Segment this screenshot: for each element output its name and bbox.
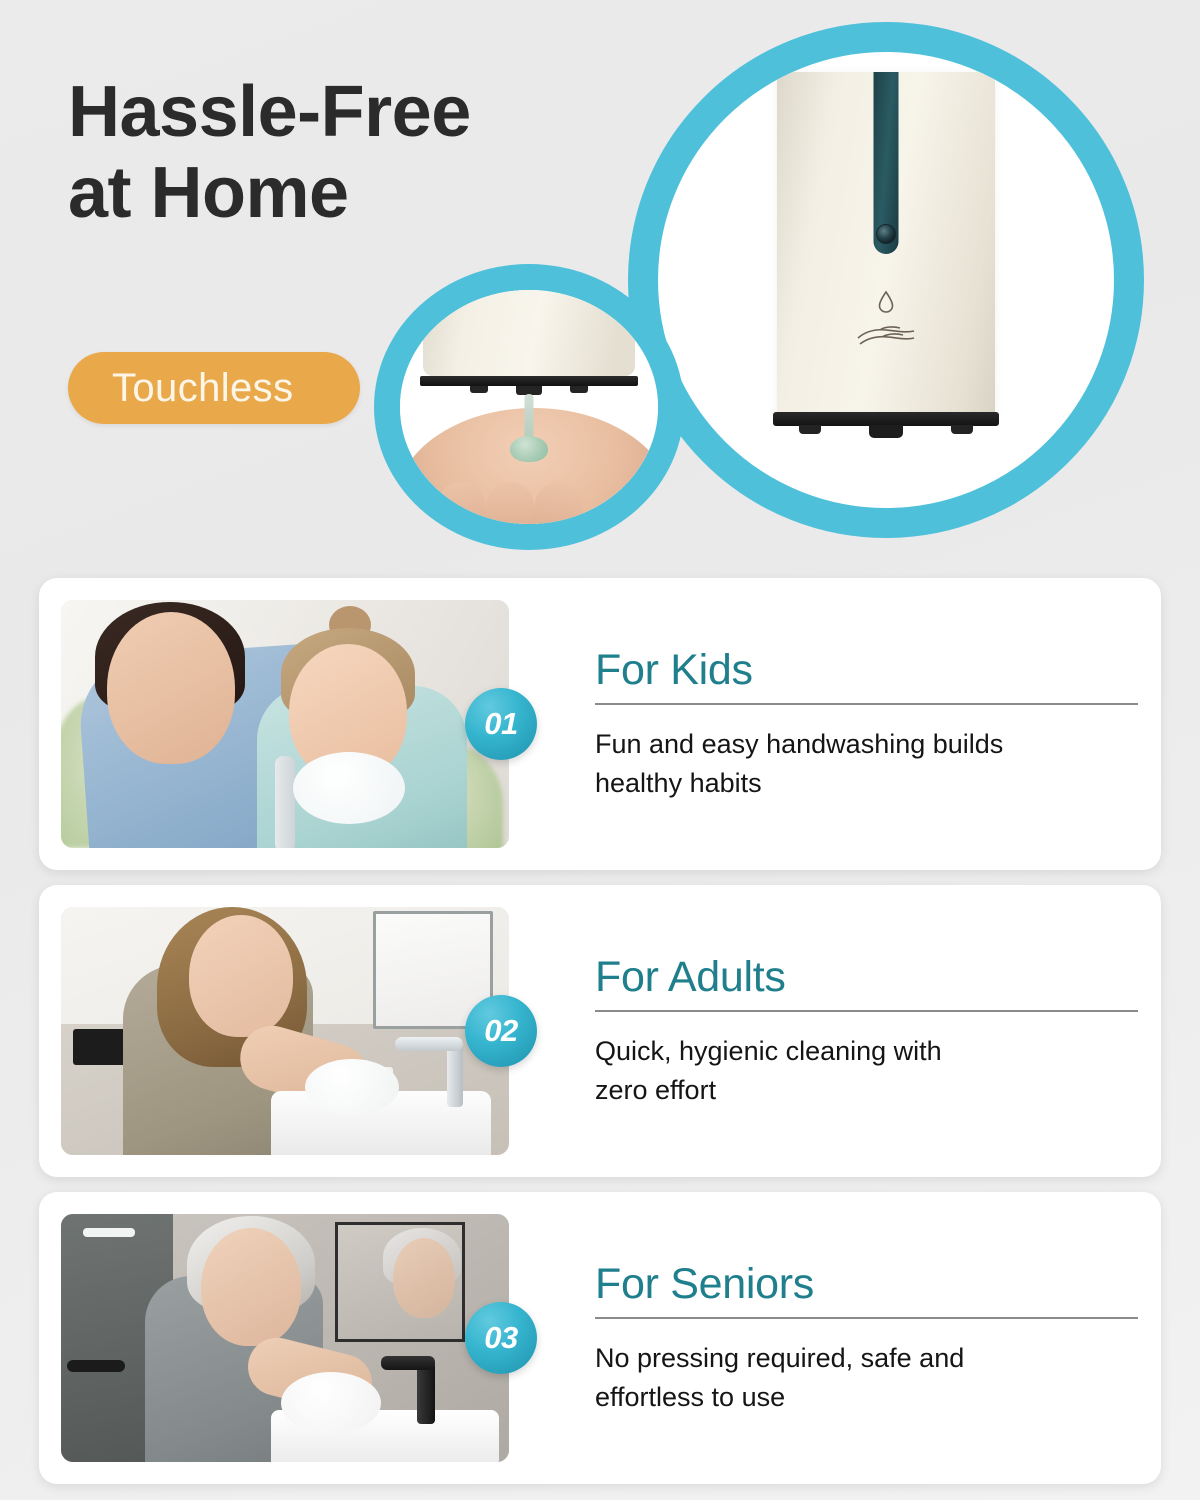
infrared-sensor-icon (876, 224, 896, 244)
soap-foam (281, 1372, 381, 1434)
step-number-badge-02: 02 (465, 995, 537, 1067)
dispenser-bottom-body (423, 264, 635, 376)
card-photo-adults (61, 907, 509, 1155)
mother-head (107, 612, 235, 764)
card-description: No pressing required, safe and effortles… (595, 1339, 1125, 1416)
hand-dispensing-scene (400, 290, 658, 524)
card-text-adults: For Adults Quick, hygienic cleaning with… (509, 953, 1146, 1109)
finger (435, 479, 490, 542)
card-title: For Adults (595, 953, 1138, 1002)
card-title: For Kids (595, 646, 1138, 695)
step-number-text: 01 (484, 706, 517, 742)
use-case-card-seniors[interactable]: 03 For Seniors No pressing required, saf… (39, 1192, 1161, 1484)
photo-senior-washing-hands (61, 1214, 509, 1462)
card-text-kids: For Kids Fun and easy handwashing builds… (509, 646, 1146, 802)
towel-bar (67, 1360, 125, 1372)
page-headline: Hassle-Free at Home (68, 72, 471, 233)
touchless-badge-label: Touchless (112, 366, 293, 411)
use-case-card-adults[interactable]: 02 For Adults Quick, hygienic cleaning w… (39, 885, 1161, 1177)
dispenser-foot-right (951, 425, 973, 434)
faucet-spout (381, 1356, 435, 1370)
dispenser-foot-left (799, 425, 821, 434)
finger (486, 482, 534, 540)
ceiling-light (83, 1228, 135, 1237)
faucet (417, 1362, 435, 1424)
soap-blob (510, 436, 548, 462)
card-divider (595, 703, 1138, 705)
faucet-spout (395, 1037, 463, 1051)
hero-section: Hassle-Free at Home Touchless (0, 0, 1200, 570)
hand-dispensing-circle (374, 264, 684, 550)
water-drop-icon (877, 290, 895, 314)
faucet (275, 756, 295, 848)
use-case-card-kids[interactable]: 01 For Kids Fun and easy handwashing bui… (39, 578, 1161, 870)
card-title: For Seniors (595, 1260, 1138, 1309)
card-description: Quick, hygienic cleaning with zero effor… (595, 1032, 1125, 1109)
card-divider (595, 1317, 1138, 1319)
dispenser-nozzle (869, 425, 903, 438)
product-closeup-circle (628, 22, 1144, 538)
card-divider (595, 1010, 1138, 1012)
use-case-cards: 01 For Kids Fun and easy handwashing bui… (0, 578, 1200, 1499)
step-number-badge-01: 01 (465, 688, 537, 760)
finger (530, 479, 586, 543)
photo-woman-washing-hands (61, 907, 509, 1155)
step-number-text: 03 (484, 1320, 517, 1356)
soap-foam (305, 1059, 399, 1115)
step-number-badge-03: 03 (465, 1302, 537, 1374)
dispenser-foot-c (570, 386, 588, 393)
soap-foam (293, 752, 405, 824)
step-number-text: 02 (484, 1013, 517, 1049)
mirror-reflection-head (393, 1238, 455, 1318)
card-photo-kids (61, 600, 509, 848)
photo-mother-and-child (61, 600, 509, 848)
soap-dispenser-illustration (777, 72, 995, 444)
dispenser-base-small (420, 376, 638, 386)
card-photo-seniors (61, 1214, 509, 1462)
faucet (447, 1043, 463, 1107)
card-description: Fun and easy handwashing builds healthy … (595, 725, 1125, 802)
dispenser-base (773, 412, 999, 426)
open-palm (394, 408, 674, 550)
hands-icon-small (503, 268, 555, 294)
touchless-badge: Touchless (68, 352, 360, 424)
woman-head (189, 915, 293, 1037)
card-text-seniors: For Seniors No pressing required, safe a… (509, 1260, 1146, 1416)
dispenser-foot-a (470, 386, 488, 393)
hands-under-dispenser-icon (856, 322, 916, 352)
soap-stream (525, 394, 534, 442)
senior-head (201, 1228, 301, 1346)
